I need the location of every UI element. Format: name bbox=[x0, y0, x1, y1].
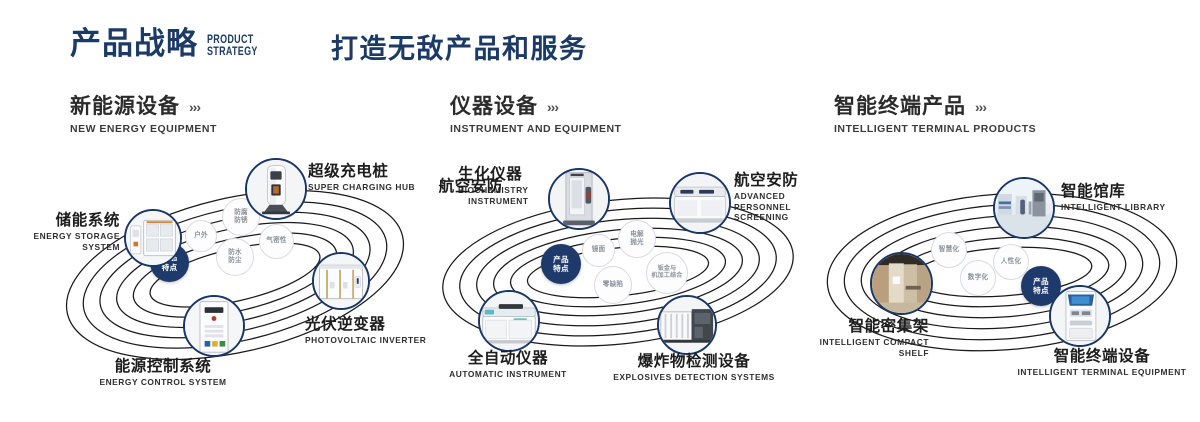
screening-machine-icon bbox=[671, 174, 729, 232]
feature-bubble: 钣金与 机加工结合 bbox=[646, 252, 688, 294]
section-title-en: NEW ENERGY EQUIPMENT bbox=[70, 124, 217, 135]
node-automatic-instrument[interactable] bbox=[478, 290, 540, 352]
poster-title-en: PRODUCT STRATEGY bbox=[207, 34, 258, 58]
node-label-intelligent-compact-shelf: 智能密集架 INTELLIGENT COMPACT SHELF bbox=[737, 318, 929, 358]
section-title-cn: 仪器设备 ››› bbox=[450, 96, 621, 117]
poster-header: 产品战略 PRODUCT STRATEGY bbox=[70, 28, 272, 59]
auto-instrument-icon bbox=[480, 292, 538, 350]
section-title-intelligent-terminal: 智能终端产品 ››› INTELLIGENT TERMINAL PRODUCTS bbox=[834, 96, 1036, 135]
node-photovoltaic-inverter[interactable] bbox=[312, 252, 370, 310]
node-intelligent-terminal-equipment[interactable] bbox=[1049, 285, 1111, 347]
node-label-aviation-security-left: 航空安防 bbox=[398, 178, 503, 195]
section-title-new-energy: 新能源设备 ››› NEW ENERGY EQUIPMENT bbox=[70, 96, 217, 135]
poster-canvas: 产品战略 PRODUCT STRATEGY 打造无敌产品和服务 新能源设备 ››… bbox=[0, 0, 1200, 422]
section-title-en: INTELLIGENT TERMINAL PRODUCTS bbox=[834, 124, 1036, 135]
feature-bubble: 零缺陷 bbox=[594, 266, 632, 304]
chevron-right-icon: ››› bbox=[189, 100, 200, 114]
bio-instrument-icon bbox=[550, 170, 608, 228]
control-cabinet-icon bbox=[185, 297, 243, 355]
charging-pile-icon bbox=[247, 160, 305, 218]
feature-bubble: 气密性 bbox=[259, 224, 294, 259]
library-room-icon bbox=[995, 179, 1053, 237]
section-title-cn: 新能源设备 ››› bbox=[70, 96, 217, 117]
feature-bubble: 电解 抛光 bbox=[618, 220, 656, 258]
node-intelligent-library[interactable] bbox=[993, 177, 1055, 239]
poster-title-en-line2: STRATEGY bbox=[207, 46, 258, 58]
feature-bubble-primary: 产品 特点 bbox=[541, 244, 581, 284]
node-label-photovoltaic-inverter: 光伏逆变器 PHOTOVOLTAIC INVERTER bbox=[305, 316, 426, 346]
cluster-instrument: 镜面 电解 抛光 零缺陷 钣金与 机加工结合 产品 特点 bbox=[418, 150, 818, 400]
feature-bubble: 防水 防尘 bbox=[216, 238, 254, 276]
node-advanced-personnel-screening[interactable] bbox=[669, 172, 731, 234]
poster-title-cn: 产品战略 bbox=[70, 28, 198, 59]
section-title-instrument: 仪器设备 ››› INSTRUMENT AND EQUIPMENT bbox=[450, 96, 621, 135]
poster-title-en-line1: PRODUCT bbox=[207, 34, 258, 46]
feature-bubble: 户外 bbox=[185, 220, 217, 252]
node-super-charging-hub[interactable] bbox=[245, 158, 307, 220]
terminal-kiosk-icon bbox=[1051, 287, 1109, 345]
section-title-cn: 智能终端产品 ››› bbox=[834, 96, 1036, 117]
node-label-automatic-instrument: 全自动仪器 AUTOMATIC INSTRUMENT bbox=[423, 350, 593, 380]
node-explosives-detection-systems[interactable] bbox=[657, 295, 717, 355]
cluster-new-energy: 户外 防腐 防锈 防水 防尘 气密性 产品 特点 bbox=[40, 150, 430, 400]
poster-slogan: 打造无敌产品和服务 bbox=[331, 36, 588, 63]
battery-cabinet-icon bbox=[126, 211, 180, 265]
node-label-energy-control-system: 能源控制系统 ENERGY CONTROL SYSTEM bbox=[78, 358, 248, 388]
compact-shelf-icon bbox=[872, 254, 931, 313]
node-label-intelligent-library: 智能馆库 INTELLIGENT LIBRARY bbox=[1061, 183, 1166, 213]
explosive-detector-icon bbox=[659, 297, 715, 353]
node-label-intelligent-terminal-equipment: 智能终端设备 INTELLIGENT TERMINAL EQUIPMENT bbox=[1005, 348, 1199, 378]
node-label-energy-storage-system: 储能系统 ENERGY STORAGE SYSTEM bbox=[0, 212, 120, 252]
feature-bubble: 镜面 bbox=[582, 234, 615, 267]
chevron-right-icon: ››› bbox=[547, 100, 558, 114]
section-title-en: INSTRUMENT AND EQUIPMENT bbox=[450, 124, 621, 135]
node-biochemistry-instrument[interactable] bbox=[548, 168, 610, 230]
node-energy-control-system[interactable] bbox=[183, 295, 245, 357]
feature-bubble: 数字化 bbox=[960, 260, 996, 296]
feature-bubble: 智慧化 bbox=[931, 232, 967, 268]
chevron-right-icon: ››› bbox=[975, 100, 986, 114]
cluster-intelligent-terminal: 智慧化 数字化 人性化 产品 特点 bbox=[805, 150, 1200, 400]
pv-inverter-icon bbox=[314, 254, 368, 308]
node-energy-storage-system[interactable] bbox=[124, 209, 182, 267]
node-intelligent-compact-shelf[interactable] bbox=[870, 252, 933, 315]
